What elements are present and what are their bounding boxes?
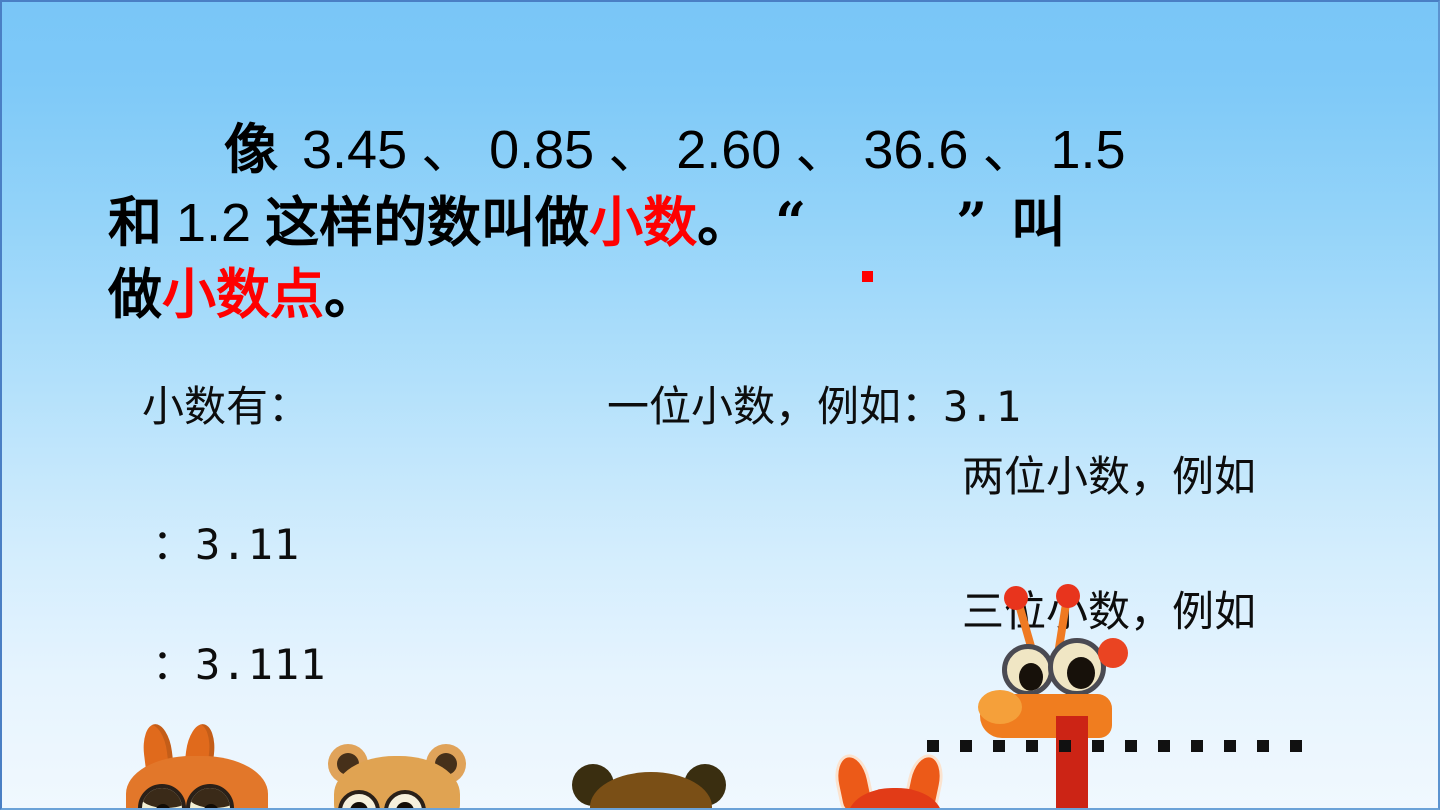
term-decimal-point: 小数点: [162, 263, 324, 326]
body-item-one-digit-name: 一位小数，例如：: [607, 382, 943, 431]
headline-lead-word: 像: [224, 118, 278, 181]
definition-text-before: 这样的数叫做: [265, 191, 589, 254]
decimal-example-4: 36.6: [863, 120, 968, 180]
headline-line-3: 做小数点。: [108, 259, 1358, 331]
definition-text-after: 叫: [1011, 191, 1065, 254]
decimal-example-3: 2.60: [676, 120, 781, 180]
period-1: 。: [697, 191, 751, 254]
ellipsis-dot: [1191, 740, 1203, 752]
separator-4: 、: [982, 118, 1036, 181]
ellipsis-dot: [960, 740, 972, 752]
headline-line-2: 和1.2这样的数叫做小数。“”叫: [108, 186, 1358, 259]
quote-open-mark: “: [775, 190, 806, 254]
giraffe-eye-left: [1002, 644, 1054, 696]
ellipsis-dot: [1092, 740, 1104, 752]
red-fox-character: [834, 754, 956, 810]
ellipsis-dot: [1257, 740, 1269, 752]
body-item-one-digit-value: 3.1: [943, 382, 1022, 431]
conjunction-word: 和: [108, 191, 162, 254]
ellipsis-dot: [1125, 740, 1137, 752]
headline-line-1: 像3.45、0.85、2.60、36.6、1.5: [108, 114, 1358, 186]
term-decimal: 小数: [589, 191, 697, 254]
orange-giraffe-character: [980, 590, 1170, 810]
body-item-three-digit-value: ：3.111: [152, 640, 326, 690]
fox-left-character: [120, 724, 276, 810]
ellipsis-dot: [1224, 740, 1236, 752]
fox-eye-right: [186, 784, 234, 810]
slide-canvas: 像3.45、0.85、2.60、36.6、1.5 和1.2这样的数叫做小数。“”…: [0, 0, 1440, 810]
giraffe-antenna-knob-left: [1004, 586, 1028, 610]
body-item-two-digit-value: ：3.11: [152, 520, 300, 570]
ellipsis-dot: [1158, 740, 1170, 752]
separator-3: 、: [795, 118, 849, 181]
quote-close-mark: ”: [956, 190, 987, 254]
ellipsis-dot: [1026, 740, 1038, 752]
ellipsis-dot: [1290, 740, 1302, 752]
headline-block: 像3.45、0.85、2.60、36.6、1.5 和1.2这样的数叫做小数。“”…: [108, 114, 1358, 331]
giraffe-neck: [1056, 716, 1088, 810]
ellipsis-dot: [1059, 740, 1071, 752]
body-item-one-digit: 一位小数，例如：3.1: [607, 382, 1022, 432]
decimal-example-6: 1.2: [176, 193, 251, 253]
decimal-example-1: 3.45: [302, 120, 407, 180]
body-item-two-digit-name: 两位小数，例如: [962, 452, 1256, 502]
decimal-example-5: 1.5: [1050, 120, 1125, 180]
decimal-point-mark: [862, 271, 873, 282]
ellipsis-dots: [927, 740, 1302, 752]
tan-bear-character: [322, 744, 472, 810]
giraffe-snout-tip: [978, 690, 1022, 724]
period-2: 。: [324, 263, 378, 326]
decimal-example-2: 0.85: [489, 120, 594, 180]
separator-2: 、: [608, 118, 662, 181]
giraffe-eye-right: [1048, 638, 1106, 696]
giraffe-cheek-knob: [1098, 638, 1128, 668]
definition-verb: 做: [108, 263, 162, 326]
body-label-decimals-have: 小数有：: [142, 382, 310, 432]
ellipsis-dot: [927, 740, 939, 752]
giraffe-antenna-knob-right: [1056, 584, 1080, 608]
separator-1: 、: [421, 118, 475, 181]
dark-bear-character: [572, 764, 732, 810]
fox-eye-left: [138, 784, 186, 810]
ellipsis-dot: [993, 740, 1005, 752]
